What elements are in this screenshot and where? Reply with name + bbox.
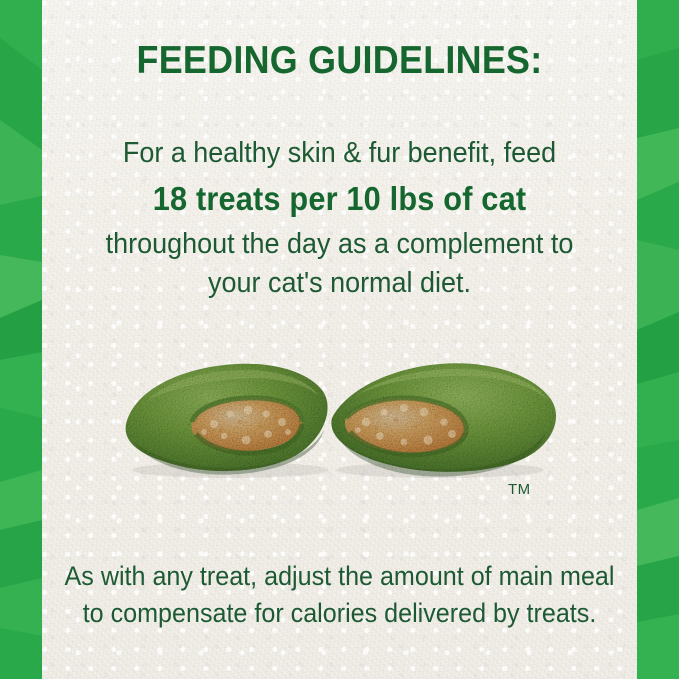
- left-green-facet-band: [0, 0, 42, 679]
- instruction-line-3: throughout the day as a complement to: [63, 225, 616, 264]
- footnote-line-2: to compensate for calories delivered by …: [63, 595, 616, 632]
- footnote-line-1: As with any treat, adjust the amount of …: [63, 558, 616, 595]
- right-facet-pattern: [637, 0, 679, 679]
- instruction-line-1: For a healthy skin & fur benefit, feed: [63, 134, 616, 173]
- feeding-guidelines-panel: FEEDING GUIDELINES: For a healthy skin &…: [0, 0, 679, 679]
- product-treats-image: [118, 352, 568, 484]
- trademark-symbol: TM: [508, 481, 531, 498]
- treat-half-right: [331, 363, 556, 476]
- left-facet-pattern: [0, 0, 42, 679]
- page-title: FEEDING GUIDELINES:: [66, 39, 613, 83]
- feeding-instructions: For a healthy skin & fur benefit, feed 1…: [42, 134, 637, 303]
- dosage-highlight: 18 treats per 10 lbs of cat: [63, 173, 616, 225]
- treats-illustration: [118, 352, 568, 484]
- calorie-footnote: As with any treat, adjust the amount of …: [42, 558, 637, 632]
- right-green-facet-band: [637, 0, 679, 679]
- instruction-line-4: your cat's normal diet.: [63, 264, 616, 303]
- treat-half-left: [126, 364, 328, 475]
